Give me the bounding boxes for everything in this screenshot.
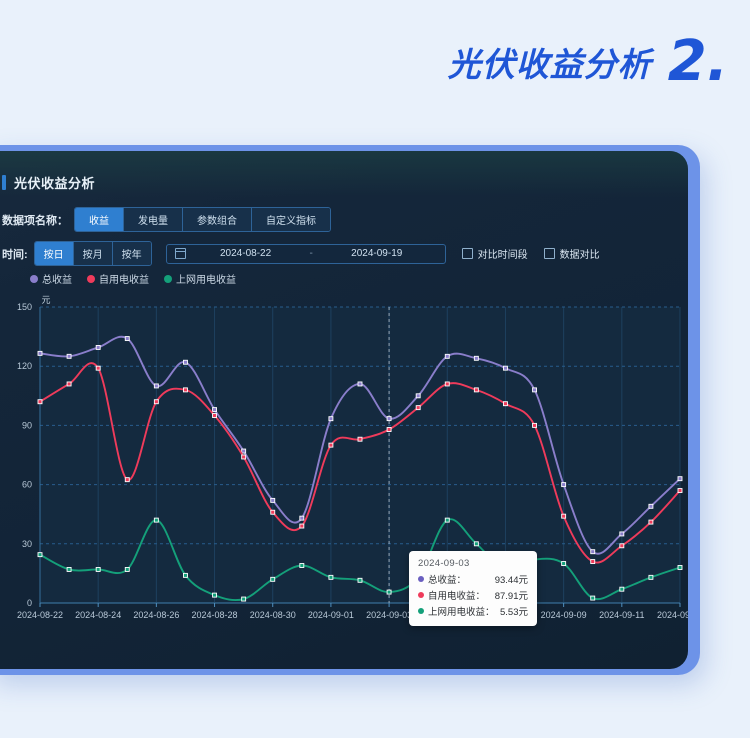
tooltip-series-value: 87.91元: [491, 588, 528, 602]
data-point[interactable]: [591, 596, 595, 600]
date-start-value[interactable]: 2024-08-22: [186, 248, 306, 259]
data-point[interactable]: [154, 384, 158, 388]
data-point[interactable]: [358, 437, 362, 441]
y-axis-tick-label: 150: [17, 302, 32, 312]
data-point[interactable]: [649, 520, 653, 524]
data-point[interactable]: [271, 510, 275, 514]
tooltip-series-name: 总收益：: [428, 572, 466, 586]
tooltip-series-value: 93.44元: [491, 572, 528, 586]
data-item-label: 数据项名称：: [2, 212, 68, 228]
legend-label: 自用电收益: [99, 271, 149, 286]
data-point[interactable]: [96, 567, 100, 571]
tab-parameter-combo[interactable]: 参数组合: [183, 208, 252, 231]
data-point[interactable]: [38, 553, 42, 557]
data-point[interactable]: [154, 518, 158, 522]
data-point[interactable]: [474, 542, 478, 546]
time-granularity-tabs[interactable]: 按日 按月 按年: [34, 241, 152, 266]
data-point[interactable]: [213, 593, 217, 597]
y-axis-tick-label: 30: [22, 539, 32, 549]
y-axis-unit-label: 元: [41, 295, 50, 305]
x-axis-tick-label: 2024-08-28: [192, 610, 238, 620]
data-point[interactable]: [242, 449, 246, 453]
data-point[interactable]: [474, 388, 478, 392]
data-point[interactable]: [38, 400, 42, 404]
data-point[interactable]: [183, 573, 187, 577]
tooltip-row-self-use: 自用电收益： 87.91元: [418, 588, 528, 602]
chart-area: 0306090120150元2024-08-222024-08-242024-0…: [0, 291, 688, 641]
time-label: 时间:: [2, 246, 28, 262]
date-range-picker[interactable]: 2024-08-22 - 2024-09-19: [166, 244, 446, 264]
tab-by-month[interactable]: 按月: [74, 242, 113, 265]
compare-data-label: 数据对比: [560, 246, 600, 261]
header-accent-bar: [2, 175, 6, 190]
data-point[interactable]: [67, 382, 71, 386]
data-point[interactable]: [620, 587, 624, 591]
legend-dot-icon: [30, 275, 38, 283]
legend-label: 上网用电收益: [176, 271, 236, 286]
data-point[interactable]: [271, 498, 275, 502]
data-point[interactable]: [591, 560, 595, 564]
data-point[interactable]: [154, 400, 158, 404]
data-point[interactable]: [300, 516, 304, 520]
data-point[interactable]: [620, 532, 624, 536]
tab-by-day[interactable]: 按日: [35, 242, 74, 265]
data-point[interactable]: [562, 514, 566, 518]
data-point[interactable]: [67, 354, 71, 358]
compare-period-checkbox[interactable]: 对比时间段: [462, 246, 528, 261]
x-axis-tick-label: 2024-09-01: [308, 610, 354, 620]
dashboard-panel-frame: 光伏收益分析 数据项名称： 收益 发电量 参数组合 自定义指标 时间: 按日 按…: [0, 145, 700, 675]
tooltip-row-grid: 上网用电收益： 5.53元: [418, 604, 528, 618]
data-point[interactable]: [125, 567, 129, 571]
data-point[interactable]: [503, 402, 507, 406]
x-axis-tick-label: 2024-09-11: [599, 610, 644, 620]
data-point[interactable]: [183, 360, 187, 364]
data-point[interactable]: [474, 356, 478, 360]
data-point[interactable]: [358, 578, 362, 582]
y-axis-tick-label: 0: [27, 598, 32, 608]
legend-dot-icon: [87, 275, 95, 283]
date-end-value[interactable]: 2024-09-19: [317, 248, 437, 259]
y-axis-tick-label: 120: [17, 361, 32, 371]
data-point[interactable]: [678, 489, 682, 493]
compare-period-label: 对比时间段: [478, 246, 528, 261]
data-point[interactable]: [387, 428, 391, 432]
page-heading: 光伏收益分析 2.: [0, 22, 750, 102]
data-point[interactable]: [620, 544, 624, 548]
data-point[interactable]: [38, 351, 42, 355]
data-point[interactable]: [329, 575, 333, 579]
panel-header: 光伏收益分析: [2, 173, 95, 192]
tooltip-row-total: 总收益： 93.44元: [418, 572, 528, 586]
data-point[interactable]: [96, 345, 100, 349]
tooltip-date: 2024-09-03: [418, 558, 528, 569]
x-axis-tick-label: 2024-09-13: [657, 610, 688, 620]
x-axis-tick-label: 2024-08-26: [133, 610, 179, 620]
tooltip-series-value: 5.53元: [496, 604, 528, 618]
tab-revenue[interactable]: 收益: [75, 208, 124, 231]
tab-custom-metric[interactable]: 自定义指标: [252, 208, 330, 231]
tooltip-dot-icon: [418, 592, 424, 598]
data-point[interactable]: [271, 577, 275, 581]
tooltip-series-name: 自用电收益：: [428, 588, 485, 602]
calendar-icon: [175, 248, 186, 259]
data-point[interactable]: [300, 524, 304, 528]
tooltip-series-name: 上网用电收益：: [428, 604, 495, 618]
checkbox-box[interactable]: [462, 248, 473, 259]
page-section-number: 2.: [668, 37, 728, 87]
data-point[interactable]: [503, 366, 507, 370]
tab-generation[interactable]: 发电量: [124, 208, 183, 231]
x-axis-tick-label: 2024-08-22: [17, 610, 63, 620]
legend-item-total-revenue[interactable]: 总收益: [30, 271, 72, 286]
checkbox-box[interactable]: [544, 248, 555, 259]
y-axis-tick-label: 60: [22, 480, 32, 490]
data-point[interactable]: [329, 443, 333, 447]
chart-tooltip: 2024-09-03 总收益： 93.44元 自用电收益： 87.91元 上网用…: [409, 551, 537, 626]
tooltip-dot-icon: [418, 576, 424, 582]
data-point[interactable]: [183, 388, 187, 392]
data-point[interactable]: [242, 455, 246, 459]
data-point[interactable]: [445, 354, 449, 358]
data-point[interactable]: [678, 477, 682, 481]
x-axis-tick-label: 2024-09-09: [541, 610, 587, 620]
time-row: 时间: 按日 按月 按年 2024-08-22 - 2024-09-19 对比时…: [2, 241, 600, 266]
page-title: 光伏收益分析: [448, 38, 652, 86]
compare-data-checkbox[interactable]: 数据对比: [544, 246, 600, 261]
tab-by-year[interactable]: 按年: [113, 242, 151, 265]
date-range-separator: -: [306, 248, 317, 259]
data-point[interactable]: [387, 417, 391, 421]
data-point[interactable]: [533, 423, 537, 427]
data-item-row: 数据项名称： 收益 发电量 参数组合 自定义指标: [2, 207, 331, 232]
data-point[interactable]: [649, 504, 653, 508]
data-point[interactable]: [678, 565, 682, 569]
tooltip-dot-icon: [418, 608, 424, 614]
data-point[interactable]: [96, 366, 100, 370]
data-point[interactable]: [387, 590, 391, 594]
panel-title: 光伏收益分析: [14, 173, 95, 192]
x-axis-tick-label: 2024-08-24: [75, 610, 121, 620]
x-axis-tick-label: 2024-09-03: [366, 610, 412, 620]
data-item-tabs[interactable]: 收益 发电量 参数组合 自定义指标: [74, 207, 331, 232]
data-point[interactable]: [358, 382, 362, 386]
x-axis-tick-label: 2024-08-30: [250, 610, 296, 620]
revenue-line-chart[interactable]: 0306090120150元2024-08-222024-08-242024-0…: [0, 291, 688, 641]
legend-label: 总收益: [42, 271, 72, 286]
panel-glow: [0, 151, 688, 197]
data-point[interactable]: [213, 408, 217, 412]
data-point[interactable]: [416, 394, 420, 398]
data-point[interactable]: [242, 597, 246, 601]
legend-dot-icon: [164, 275, 172, 283]
data-point[interactable]: [562, 483, 566, 487]
data-point[interactable]: [213, 414, 217, 418]
data-point[interactable]: [125, 337, 129, 341]
chart-legend: 总收益 自用电收益 上网用电收益: [30, 271, 244, 286]
data-point[interactable]: [445, 518, 449, 522]
data-point[interactable]: [533, 388, 537, 392]
data-point[interactable]: [591, 550, 595, 554]
legend-item-grid-revenue[interactable]: 上网用电收益: [164, 271, 236, 286]
data-point[interactable]: [562, 562, 566, 566]
data-point[interactable]: [445, 382, 449, 386]
legend-item-self-use-revenue[interactable]: 自用电收益: [87, 271, 149, 286]
y-axis-tick-label: 90: [22, 420, 32, 430]
data-point[interactable]: [649, 575, 653, 579]
data-point[interactable]: [67, 567, 71, 571]
data-point[interactable]: [329, 417, 333, 421]
data-point[interactable]: [125, 478, 129, 482]
data-point[interactable]: [300, 564, 304, 568]
dashboard-panel: 光伏收益分析 数据项名称： 收益 发电量 参数组合 自定义指标 时间: 按日 按…: [0, 151, 688, 669]
data-point[interactable]: [416, 406, 420, 410]
